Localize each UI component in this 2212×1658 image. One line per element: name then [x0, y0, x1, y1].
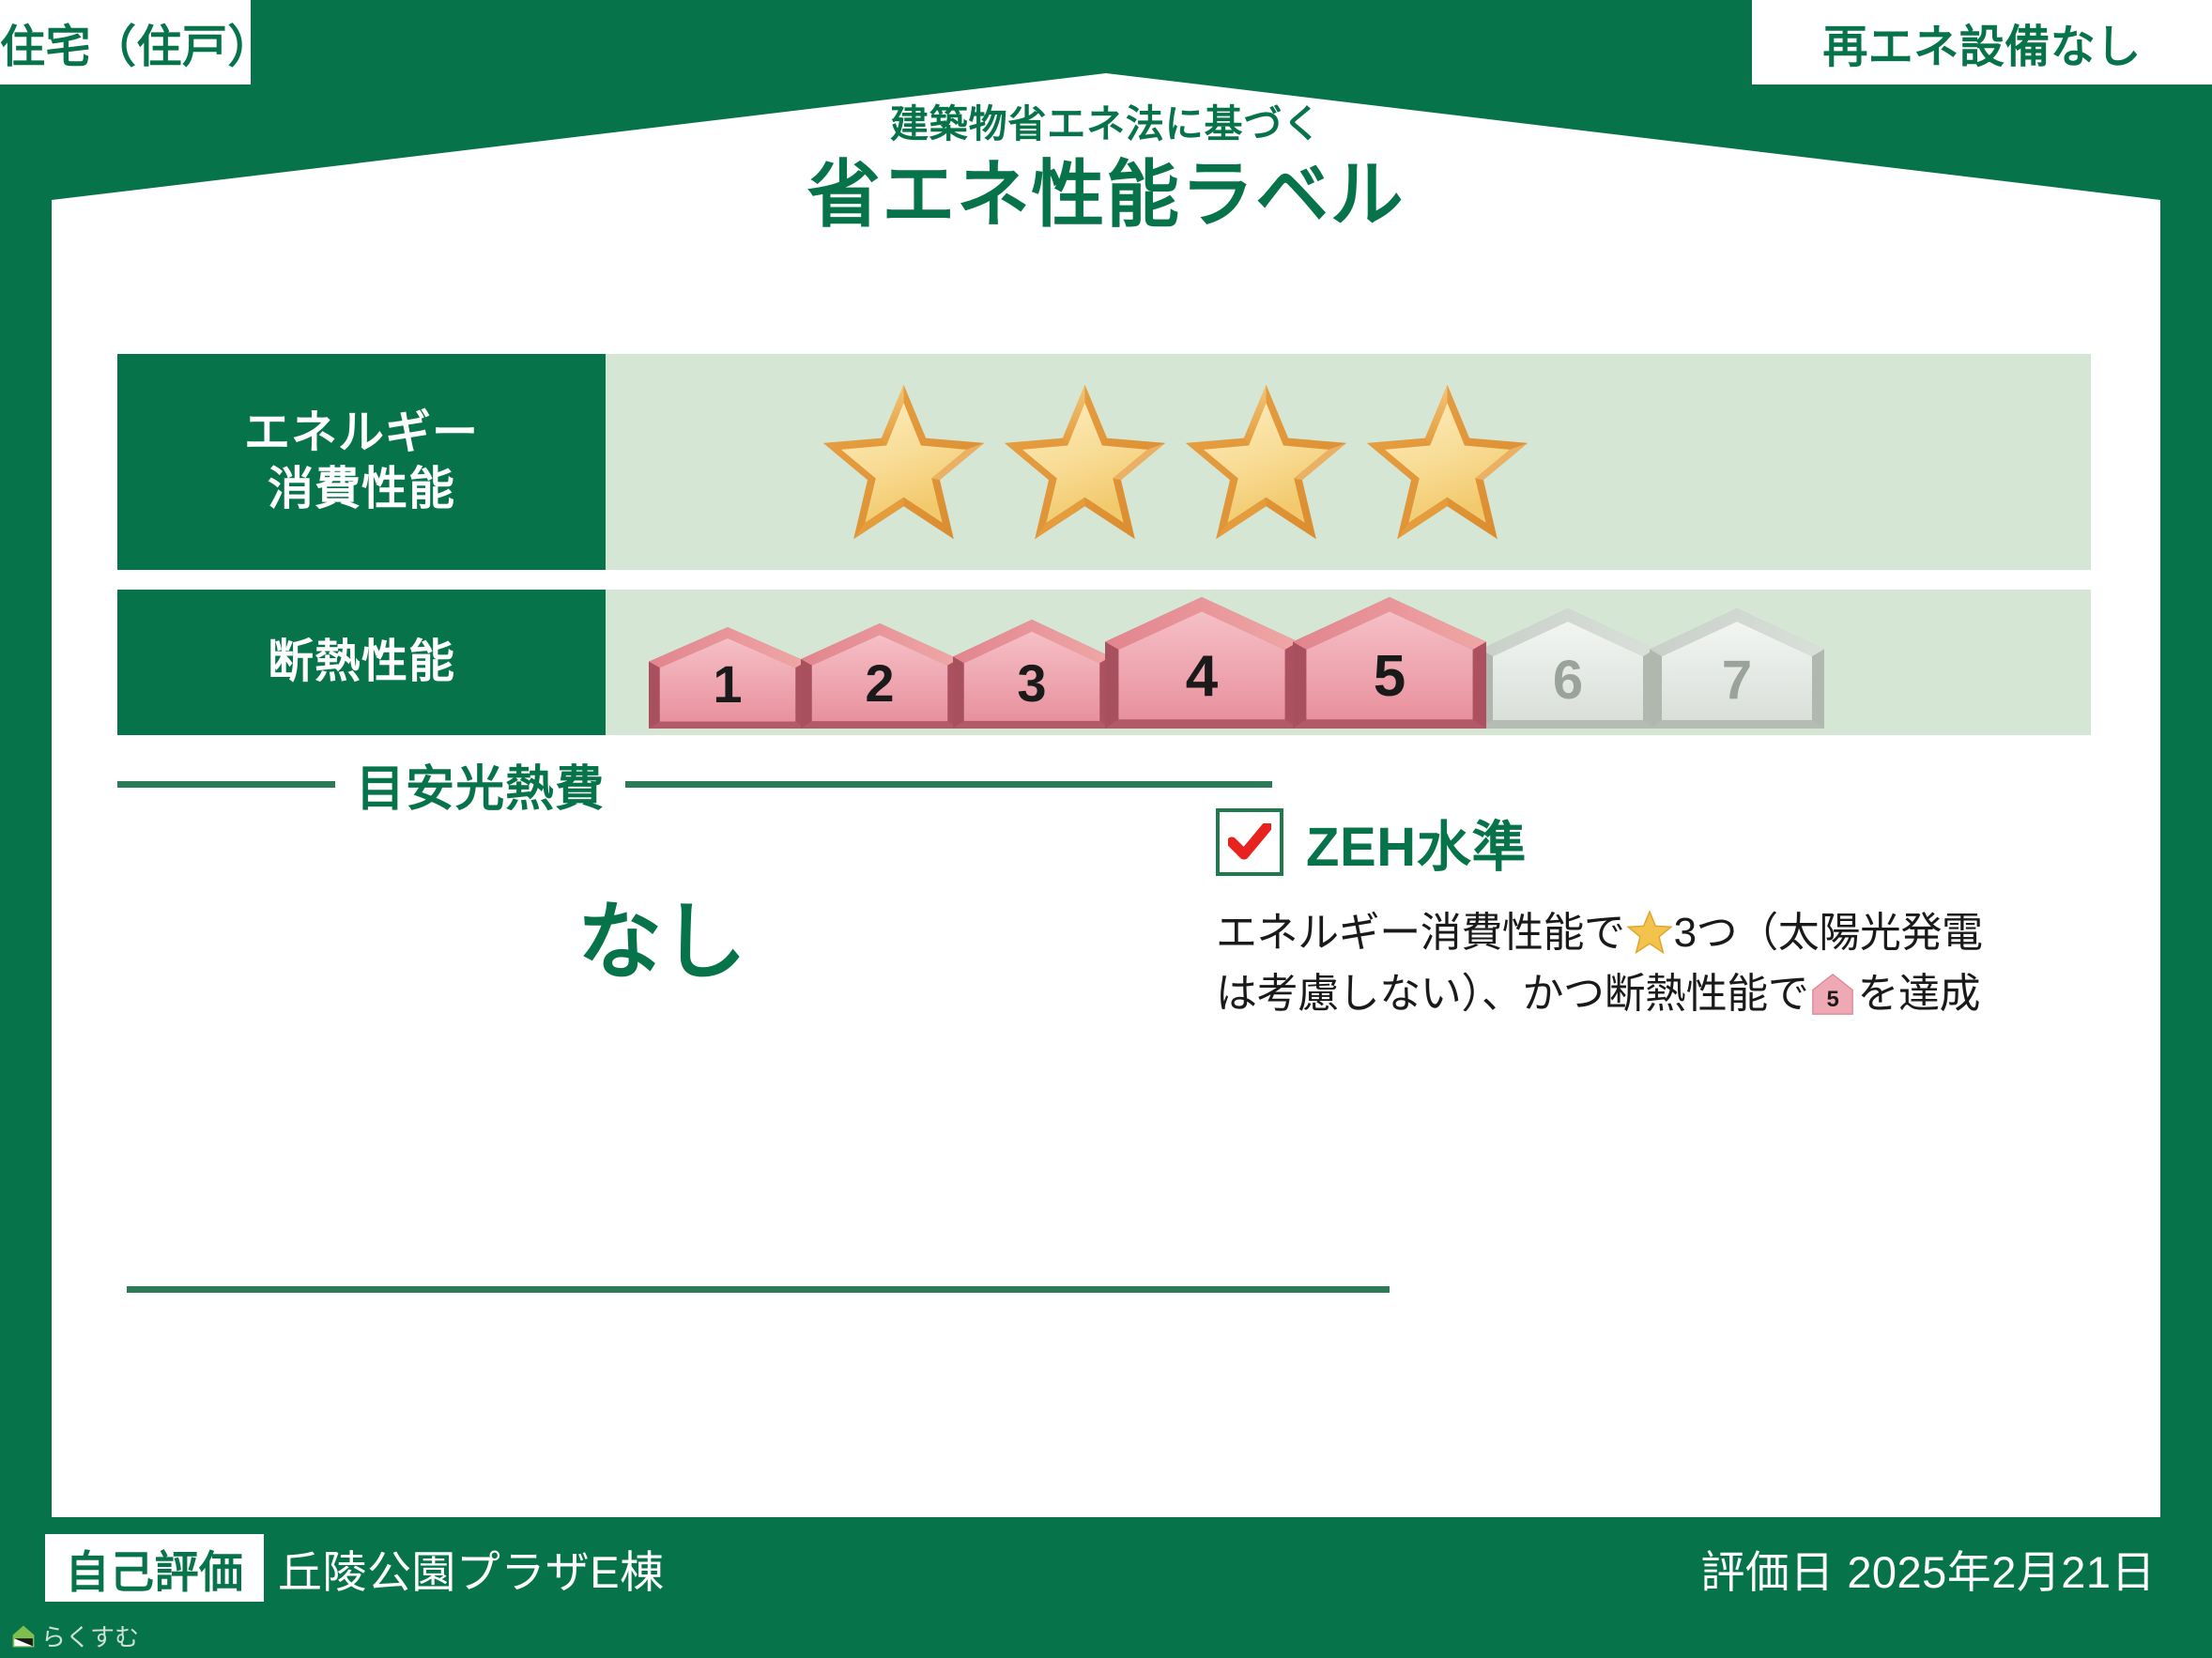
- house-icon: [1105, 597, 1298, 729]
- insulation-level-5[interactable]: 5: [1293, 597, 1486, 729]
- building-type-tag: 住宅（住戸）: [0, 0, 251, 84]
- utility-cost-title: 目安光熱費: [356, 749, 605, 820]
- zeh-standard-block: ZEH水準 エネルギー消費性能で3つ（太陽光発電 は考慮しない）、かつ断熱性能で…: [1216, 803, 2127, 1024]
- check-icon: [1228, 823, 1271, 861]
- insulation-scale: 1 2: [606, 590, 2091, 735]
- label-card: エネルギー 消費性能: [52, 310, 2160, 1517]
- house-icon: [953, 620, 1111, 729]
- zeh-title: ZEH水準: [1306, 803, 1527, 882]
- evaluation-date: 評価日 2025年2月21日: [1700, 1538, 2156, 1598]
- star-icon: [1365, 383, 1529, 541]
- energy-star-rating: [606, 354, 2091, 570]
- insulation-level-1[interactable]: 1: [649, 627, 806, 729]
- heading-rule-left: [117, 781, 335, 788]
- star-icon: [1003, 383, 1167, 541]
- insulation-level-7[interactable]: 7: [1650, 608, 1824, 729]
- self-evaluation-badge: 自己評価: [45, 1534, 264, 1602]
- house-icon: [801, 623, 959, 729]
- inline-house-badge: 5: [1808, 971, 1857, 1017]
- insulation-performance-row: 断熱性能 1: [117, 590, 2091, 735]
- insulation-level-strip: 1 2: [649, 597, 1819, 729]
- energy-label-line2: 消費性能: [268, 462, 455, 518]
- house-icon: [1481, 608, 1655, 729]
- insulation-level-3[interactable]: 3: [953, 620, 1111, 729]
- house-icon: [649, 627, 806, 729]
- label-footer: 自己評価 丘陵公園プラザE棟 評価日 2025年2月21日 らくすむ: [0, 1517, 2212, 1658]
- building-name: 丘陵公園プラザE棟: [278, 1538, 665, 1598]
- zeh-checkbox[interactable]: [1216, 808, 1283, 876]
- zeh-desc-part2: は考慮しない）、かつ断熱性能で: [1216, 971, 1808, 1017]
- renewable-equipment-tag: 再エネ設備なし: [1752, 0, 2212, 84]
- zeh-description: エネルギー消費性能で3つ（太陽光発電 は考慮しない）、かつ断熱性能で5を達成: [1216, 902, 2127, 1024]
- heading-rule-right: [625, 781, 1272, 788]
- zeh-desc-part1: エネルギー消費性能で: [1216, 910, 1625, 956]
- star-icon: [1184, 383, 1348, 541]
- zeh-desc-part3: を達成: [1857, 971, 1980, 1017]
- inline-house-level: 5: [1827, 987, 1839, 1012]
- house-logo-icon: [11, 1624, 36, 1649]
- zeh-heading: ZEH水準: [1216, 803, 2127, 882]
- house-icon: 5: [1811, 973, 1854, 1016]
- insulation-level-2[interactable]: 2: [801, 623, 959, 729]
- insulation-label: 断熱性能: [268, 635, 455, 691]
- utility-cost-heading: 目安光熱費: [117, 756, 1272, 812]
- zeh-desc-stars: 3つ（太陽光発電: [1674, 910, 1983, 956]
- insulation-performance-label: 断熱性能: [117, 590, 606, 735]
- star-icon: [1627, 911, 1672, 954]
- brand-name: らくすむ: [41, 1619, 139, 1653]
- utility-cost-bottom-rule: [127, 1286, 1390, 1293]
- house-icon: [1650, 608, 1824, 729]
- star-icon: [822, 383, 986, 541]
- energy-performance-label: エネルギー 消費性能: [117, 354, 606, 570]
- brand-logo: らくすむ: [11, 1619, 139, 1653]
- energy-label-line1: エネルギー: [244, 406, 479, 462]
- insulation-level-4[interactable]: 4: [1105, 597, 1298, 729]
- energy-performance-row: エネルギー 消費性能: [117, 354, 2091, 570]
- insulation-level-6[interactable]: 6: [1481, 608, 1655, 729]
- house-icon: [1293, 597, 1486, 729]
- utility-cost-value: なし: [117, 873, 1206, 995]
- page-title: 省エネ性能ラベル: [0, 136, 2212, 241]
